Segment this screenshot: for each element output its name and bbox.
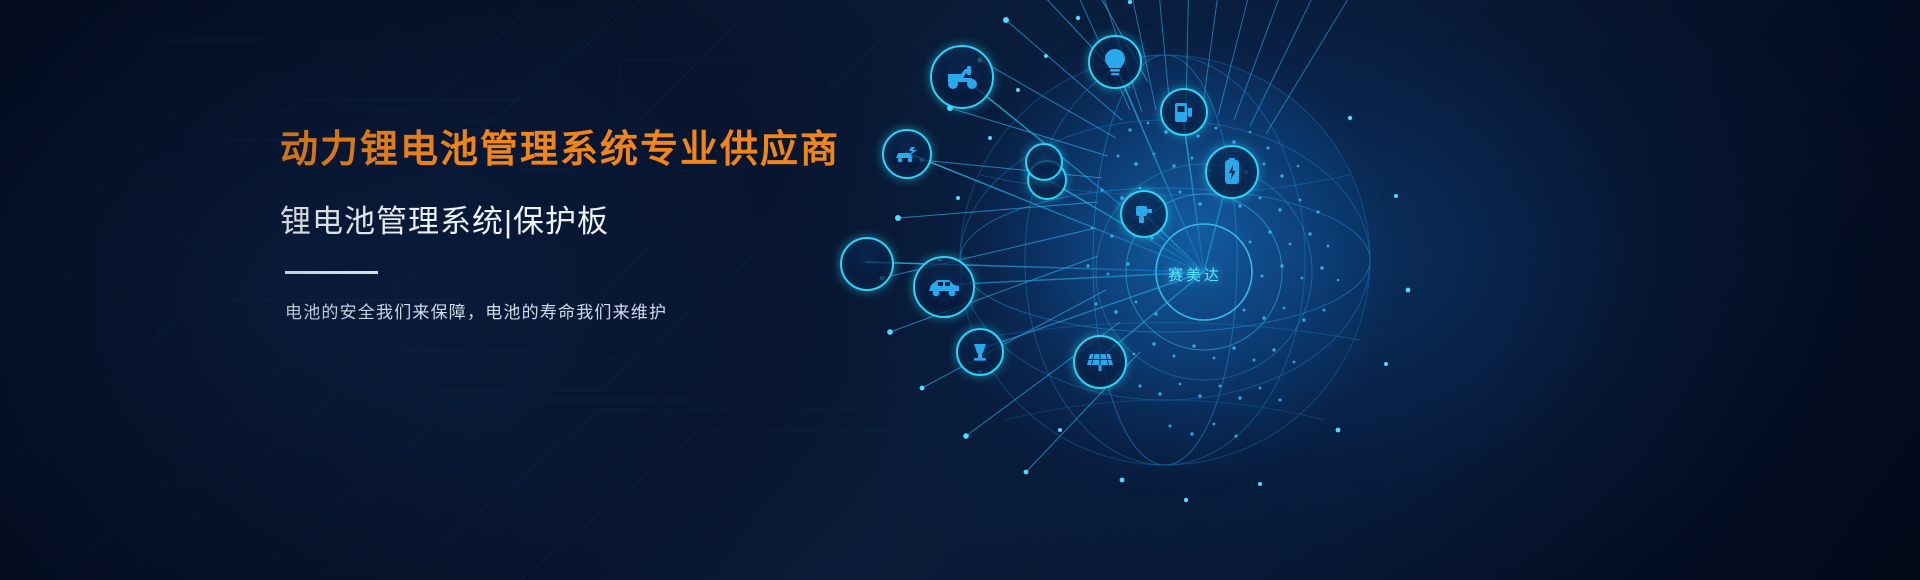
charging-station-icon (1160, 88, 1208, 136)
lightbulb-icon (1088, 35, 1142, 89)
car-icon (913, 256, 975, 318)
drone-icon (1025, 143, 1063, 181)
spotlight-icon (956, 328, 1004, 376)
hero-copy: 动力锂电池管理系统专业供应商 锂电池管理系统|保护板 电池的安全我们来保障，电池… (280, 128, 900, 323)
divider (285, 271, 378, 274)
page-title: 动力锂电池管理系统专业供应商 (280, 128, 900, 173)
electric-car-icon (882, 129, 932, 179)
hub-brand-label: 赛美达 (1168, 264, 1222, 285)
tagline-text: 电池的安全我们来保障，电池的寿命我们来维护 (285, 298, 900, 323)
globe-graphic: 赛美达 (830, 0, 1470, 580)
power-tool-icon (1120, 190, 1168, 238)
empty-node-icon (840, 237, 894, 291)
battery-icon (1205, 145, 1259, 199)
hero-banner: 动力锂电池管理系统专业供应商 锂电池管理系统|保护板 电池的安全我们来保障，电池… (0, 0, 1920, 580)
scooter-icon (930, 45, 994, 109)
page-subtitle: 锂电池管理系统|保护板 (280, 196, 900, 241)
solar-panel-icon (1073, 335, 1127, 389)
